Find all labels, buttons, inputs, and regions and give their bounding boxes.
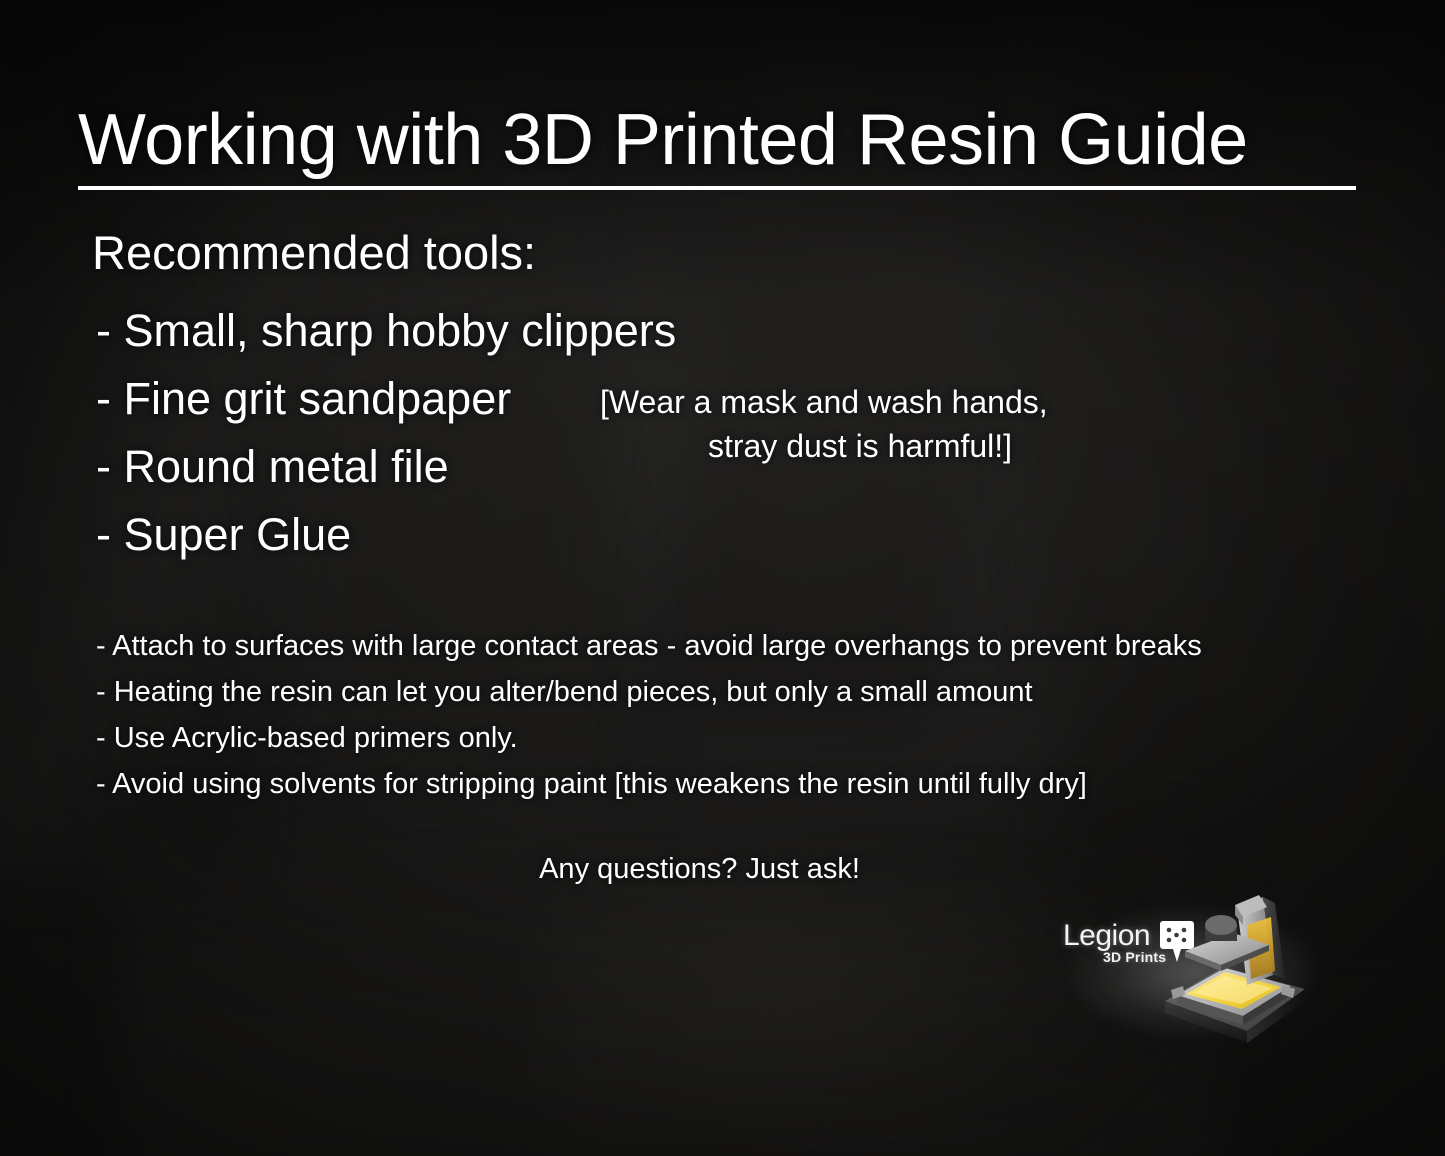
list-item: - Use Acrylic-based primers only. (96, 715, 1396, 761)
list-item: - Small, sharp hobby clippers (96, 297, 676, 365)
legion-3d-prints-logo: Legion 3D Prints (1055, 885, 1315, 1045)
title-underline (78, 186, 1356, 190)
slide-content: Working with 3D Printed Resin Guide Reco… (0, 0, 1445, 1156)
slide-root: Working with 3D Printed Resin Guide Reco… (0, 0, 1445, 1156)
list-item: - Super Glue (96, 501, 676, 569)
recommended-tools-heading: Recommended tools: (92, 229, 536, 276)
tips-list: - Attach to surfaces with large contact … (96, 623, 1396, 807)
safety-note-line-1: [Wear a mask and wash hands, (600, 380, 1090, 424)
resin-3d-printer-icon (1155, 885, 1315, 1045)
safety-note: [Wear a mask and wash hands, stray dust … (600, 380, 1090, 468)
list-item: - Attach to surfaces with large contact … (96, 623, 1396, 669)
safety-note-line-2: stray dust is harmful!] (600, 424, 1090, 468)
page-title: Working with 3D Printed Resin Guide (78, 103, 1368, 179)
list-item: - Round metal file (96, 433, 676, 501)
list-item: - Fine grit sandpaper (96, 365, 676, 433)
closing-text: Any questions? Just ask! (0, 849, 1422, 889)
logo-wordmark: Legion (1063, 921, 1150, 951)
recommended-tools-list: - Small, sharp hobby clippers - Fine gri… (96, 297, 676, 569)
list-item: - Avoid using solvents for stripping pai… (96, 761, 1396, 807)
list-item: - Heating the resin can let you alter/be… (96, 669, 1396, 715)
